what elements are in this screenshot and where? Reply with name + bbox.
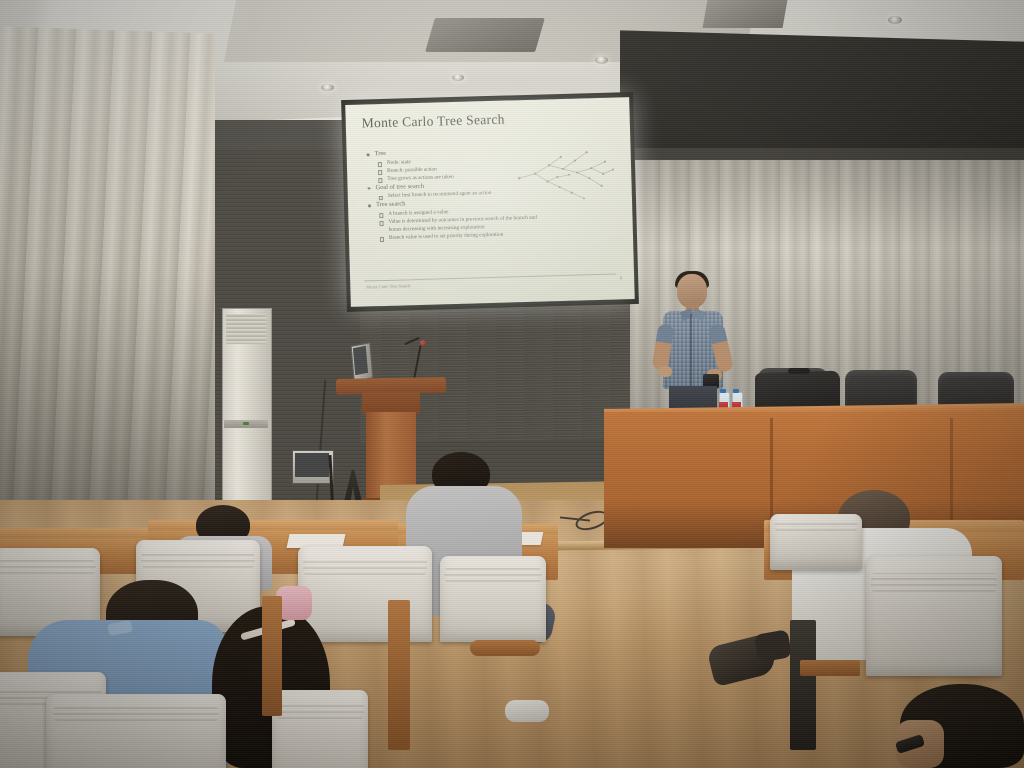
presenter-head — [677, 274, 707, 308]
microphone-head-icon — [420, 340, 426, 346]
slide-bullet-list: Tree Node: state Branch: possible action… — [365, 144, 617, 244]
left-curtain-shading — [0, 26, 215, 554]
seat-cover — [46, 694, 226, 768]
projection-screen: Monte Carlo Tree Search Tree Node: stat — [345, 97, 635, 307]
slide-page-number: 6 — [620, 275, 622, 280]
slide-footer-text: Monte Carlo Tree Search — [366, 283, 410, 289]
downlight-icon — [321, 84, 334, 91]
downlight-icon — [888, 16, 902, 24]
seat-armrest — [470, 640, 540, 656]
downlight-icon — [452, 74, 464, 81]
seat-cover — [440, 556, 546, 642]
slide-footer-rule — [364, 274, 616, 282]
seat-cover — [298, 546, 432, 642]
presenter-hand-left — [659, 366, 672, 377]
lecture-hall-photo: Monte Carlo Tree Search Tree Node: stat — [0, 0, 1024, 768]
presenter-lower-body — [669, 386, 717, 410]
air-conditioner-grille-icon — [226, 314, 266, 344]
power-led-icon — [243, 422, 249, 425]
presenter — [655, 274, 751, 428]
floor-monitor-screen — [295, 453, 329, 477]
ceiling-air-vent — [703, 0, 788, 28]
seat-armrest — [800, 660, 860, 676]
presenter-shirt-placket — [690, 314, 692, 386]
seat-frame — [388, 600, 410, 750]
seat-cover — [272, 690, 368, 768]
seat-frame — [262, 596, 282, 716]
slide-title: Monte Carlo Tree Search — [362, 112, 505, 132]
attendee-shoe — [505, 700, 549, 722]
podium-neck — [362, 392, 420, 414]
downlight-icon — [595, 56, 608, 64]
seat-frame — [790, 620, 816, 750]
laptop-screen — [353, 346, 368, 375]
ceiling-air-vent — [425, 18, 545, 52]
laptop-bag-handle — [788, 368, 810, 374]
seat-cover — [866, 556, 1002, 676]
seat-cover — [770, 514, 862, 570]
